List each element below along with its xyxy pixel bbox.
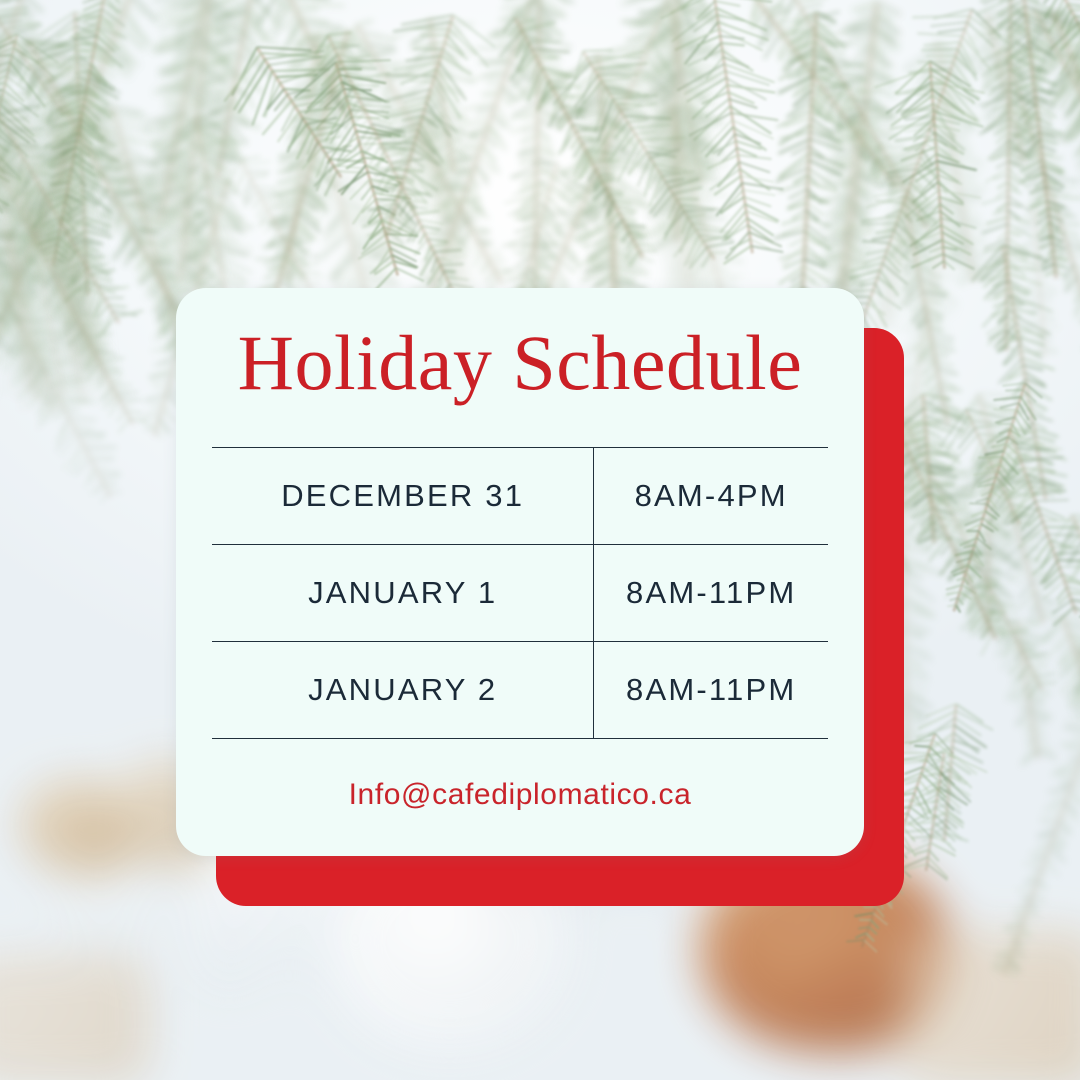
schedule-hours-cell: 8AM-11PM bbox=[594, 545, 828, 642]
schedule-table: DECEMBER 318AM-4PMJANUARY 18AM-11PMJANUA… bbox=[212, 447, 828, 739]
schedule-card: Holiday Schedule DECEMBER 318AM-4PMJANUA… bbox=[176, 288, 864, 856]
holiday-schedule-poster: Holiday Schedule DECEMBER 318AM-4PMJANUA… bbox=[0, 0, 1080, 1080]
schedule-day-cell: JANUARY 2 bbox=[212, 642, 594, 739]
schedule-hours-cell: 8AM-11PM bbox=[594, 642, 828, 739]
schedule-row: JANUARY 28AM-11PM bbox=[212, 642, 828, 739]
page-title: Holiday Schedule bbox=[176, 324, 864, 402]
schedule-row: JANUARY 18AM-11PM bbox=[212, 545, 828, 642]
schedule-hours-cell: 8AM-4PM bbox=[594, 448, 828, 545]
schedule-row: DECEMBER 318AM-4PM bbox=[212, 448, 828, 545]
schedule-day-cell: DECEMBER 31 bbox=[212, 448, 594, 545]
schedule-day-cell: JANUARY 1 bbox=[212, 545, 594, 642]
contact-email[interactable]: Info@cafediplomatico.ca bbox=[176, 778, 864, 812]
